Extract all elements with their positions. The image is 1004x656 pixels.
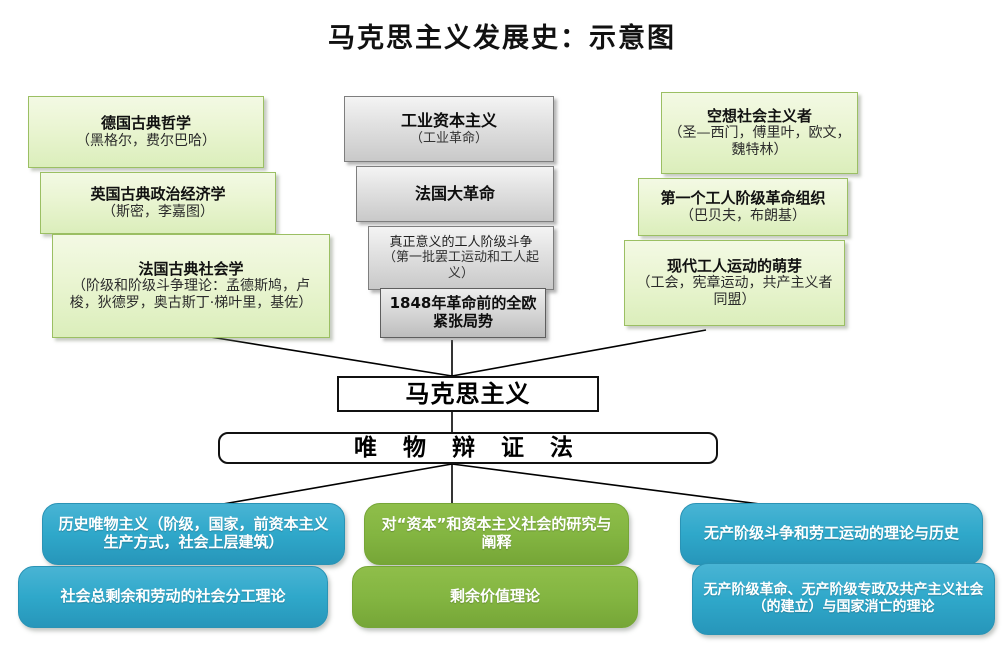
diagram-canvas: 马克思主义发展史：示意图 德国古典哲学 （黑格尔，费尔巴哈） 英国古典政治经济学… (0, 0, 1004, 656)
box-heading: 德国古典哲学 (101, 115, 191, 133)
box-heading: 马克思主义 (406, 380, 531, 408)
outcome-box-proletarian-struggle-history[interactable]: 无产阶级斗争和劳工运动的理论与历史 (680, 503, 983, 565)
outcome-box-social-surplus-division-of-labour[interactable]: 社会总剩余和劳动的社会分工理论 (18, 566, 328, 628)
box-heading: 无产阶级革命、无产阶级专政及共产主义社会（的建立）与国家消亡的理论 (703, 582, 984, 615)
outcome-box-capital-study[interactable]: 对“资本”和资本主义社会的研究与阐释 (364, 503, 629, 565)
box-heading: 真正意义的工人阶级斗争 (389, 235, 532, 250)
source-box-workers-struggle[interactable]: 真正意义的工人阶级斗争 （第一批罢工运动和工人起义） (368, 226, 554, 290)
box-subtext: （黑格尔，费尔巴哈） (76, 133, 216, 150)
source-box-french-sociology[interactable]: 法国古典社会学 （阶级和阶级斗争理论：孟德斯鸠，卢梭，狄德罗，奥古斯丁·梯叶里，… (52, 234, 330, 338)
link-dialectics-to-right (452, 464, 790, 508)
box-heading: 社会总剩余和劳动的社会分工理论 (60, 588, 285, 606)
core-box-marxism[interactable]: 马克思主义 (337, 376, 599, 412)
box-subtext: （圣—西门，傅里叶，欧文，魏特林） (668, 125, 851, 158)
outcome-box-historical-materialism[interactable]: 历史唯物主义（阶级，国家，前资本主义生产方式，社会上层建筑） (42, 503, 345, 565)
link-left-to-marxism (198, 335, 452, 376)
box-subtext: （阶级和阶级斗争理论：孟德斯鸠，卢梭，狄德罗，奥古斯丁·梯叶里，基佐） (59, 278, 323, 311)
box-subtext: （巴贝夫，布朗基） (680, 208, 806, 225)
box-heading: 无产阶级斗争和劳工运动的理论与历史 (704, 525, 959, 543)
outcome-box-proletarian-revolution-dictatorship[interactable]: 无产阶级革命、无产阶级专政及共产主义社会（的建立）与国家消亡的理论 (692, 563, 995, 635)
box-subtext: （斯密，李嘉图） (102, 204, 214, 221)
source-box-french-revolution[interactable]: 法国大革命 (356, 166, 554, 222)
box-heading: 英国古典政治经济学 (90, 186, 225, 204)
source-box-first-workers-organization[interactable]: 第一个工人阶级革命组织 （巴贝夫，布朗基） (638, 178, 848, 236)
source-box-industrial-capitalism[interactable]: 工业资本主义 （工业革命） (344, 96, 554, 162)
box-heading: 剩余价值理论 (450, 588, 540, 606)
source-box-german-philosophy[interactable]: 德国古典哲学 （黑格尔，费尔巴哈） (28, 96, 264, 168)
box-heading: 工业资本主义 (401, 112, 497, 131)
core-box-dialectical-materialism[interactable]: 唯 物 辩 证 法 (218, 432, 718, 464)
box-heading: 唯 物 辩 证 法 (354, 434, 582, 461)
source-box-modern-labour-movement[interactable]: 现代工人运动的萌芽 （工会，宪章运动，共产主义者同盟） (624, 240, 845, 326)
outcome-box-surplus-value-theory[interactable]: 剩余价值理论 (352, 566, 638, 628)
box-heading: 对“资本”和资本主义社会的研究与阐释 (375, 516, 618, 551)
box-heading: 1848年革命前的全欧紧张局势 (387, 295, 539, 330)
box-heading: 现代工人运动的萌芽 (667, 258, 802, 276)
box-heading: 历史唯物主义（阶级，国家，前资本主义生产方式，社会上层建筑） (53, 516, 334, 551)
box-heading: 空想社会主义者 (707, 108, 812, 126)
source-box-1848-tension[interactable]: 1848年革命前的全欧紧张局势 (380, 288, 546, 338)
source-box-english-economics[interactable]: 英国古典政治经济学 （斯密，李嘉图） (40, 172, 276, 234)
box-subtext: （工会，宪章运动，共产主义者同盟） (631, 275, 838, 308)
box-heading: 法国大革命 (415, 185, 495, 204)
box-heading: 法国古典社会学 (138, 261, 243, 279)
box-subtext: （第一批罢工运动和工人起义） (375, 250, 547, 281)
source-box-utopian-socialists[interactable]: 空想社会主义者 （圣—西门，傅里叶，欧文，魏特林） (661, 92, 858, 174)
box-subtext: （工业革命） (410, 131, 488, 146)
link-dialectics-to-left (200, 464, 452, 508)
box-heading: 第一个工人阶级革命组织 (660, 190, 825, 208)
